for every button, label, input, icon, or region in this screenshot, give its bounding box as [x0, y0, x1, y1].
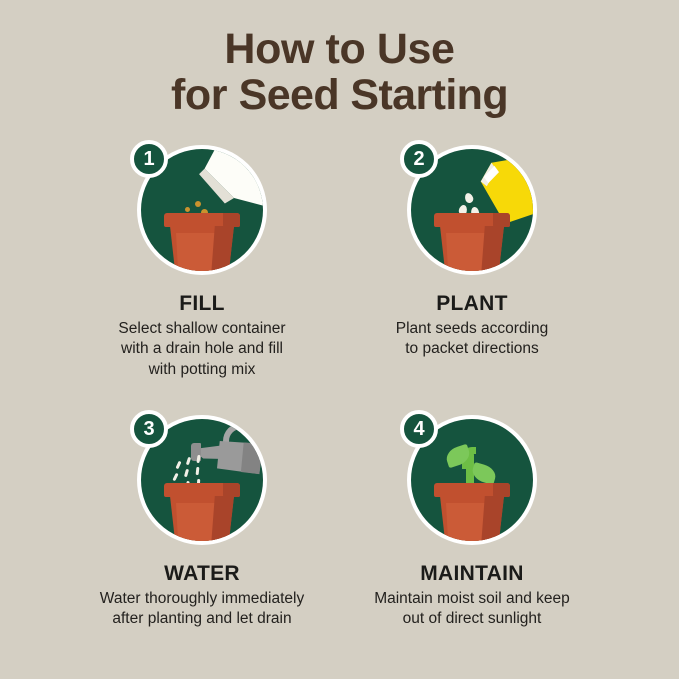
step-description: Plant seeds according to packet directio…	[322, 319, 622, 360]
desc-line: Water thoroughly immediately	[52, 589, 352, 609]
desc-line: with potting mix	[52, 360, 352, 380]
step-card-water: 3 WATER Water thoroughly immediately aft…	[52, 408, 352, 630]
page-title: How to Use for Seed Starting	[0, 26, 679, 119]
pot-rim-shade	[493, 483, 510, 497]
desc-line: after planting and let drain	[52, 609, 352, 629]
step-card-fill: 1 FILL Select shallow container with a d…	[52, 138, 352, 380]
pot-rim	[164, 213, 240, 227]
plant-pot-icon	[434, 213, 510, 275]
step-title: FILL	[52, 292, 352, 316]
step-illustration-maintain: 4	[400, 408, 544, 552]
step-number-badge: 1	[130, 140, 168, 178]
step-description: Maintain moist soil and keep out of dire…	[322, 589, 622, 630]
seedling-leaf-right	[470, 462, 498, 485]
watering-can-icon	[187, 421, 267, 487]
step-caption: PLANT Plant seeds according to packet di…	[322, 292, 622, 360]
desc-line: to packet directions	[322, 339, 622, 359]
desc-line: out of direct sunlight	[322, 609, 622, 629]
step-illustration-plant: 2	[400, 138, 544, 282]
step-card-plant: 2 PLANT Plant seeds according to packet …	[322, 138, 622, 360]
desc-line: with a drain hole and fill	[52, 339, 352, 359]
step-description: Water thoroughly immediately after plant…	[52, 589, 352, 630]
step-number-badge: 2	[400, 140, 438, 178]
step-illustration-water: 3	[130, 408, 274, 552]
plant-pot-icon	[164, 483, 240, 545]
pot-rim	[434, 213, 510, 227]
desc-line: Maintain moist soil and keep	[322, 589, 622, 609]
step-number-badge: 3	[130, 410, 168, 448]
title-line-1: How to Use	[0, 26, 679, 72]
desc-line: Plant seeds according	[322, 319, 622, 339]
step-caption: WATER Water thoroughly immediately after…	[52, 562, 352, 630]
step-description: Select shallow container with a drain ho…	[52, 319, 352, 380]
title-prefix: for	[171, 71, 239, 119]
can-spout	[197, 445, 225, 459]
plant-pot-icon	[434, 483, 510, 545]
pot-rim-shade	[223, 213, 240, 227]
step-illustration-fill: 1	[130, 138, 274, 282]
desc-line: Select shallow container	[52, 319, 352, 339]
pot-rim	[434, 483, 510, 497]
pot-rim-shade	[223, 483, 240, 497]
step-title: MAINTAIN	[322, 562, 622, 586]
infographic-page: How to Use for Seed Starting	[0, 0, 679, 679]
plant-pot-icon	[164, 213, 240, 275]
steps-grid: 1 FILL Select shallow container with a d…	[0, 138, 679, 678]
pot-rim	[164, 483, 240, 497]
title-emphasis: Seed Starting	[239, 71, 508, 119]
title-line-2: for Seed Starting	[0, 72, 679, 118]
step-title: PLANT	[322, 292, 622, 316]
step-number-badge: 4	[400, 410, 438, 448]
step-card-maintain: 4 MAINTAIN Maintain moist soil and keep …	[322, 408, 622, 630]
step-title: WATER	[52, 562, 352, 586]
step-caption: MAINTAIN Maintain moist soil and keep ou…	[322, 562, 622, 630]
pot-rim-shade	[493, 213, 510, 227]
step-caption: FILL Select shallow container with a dra…	[52, 292, 352, 380]
